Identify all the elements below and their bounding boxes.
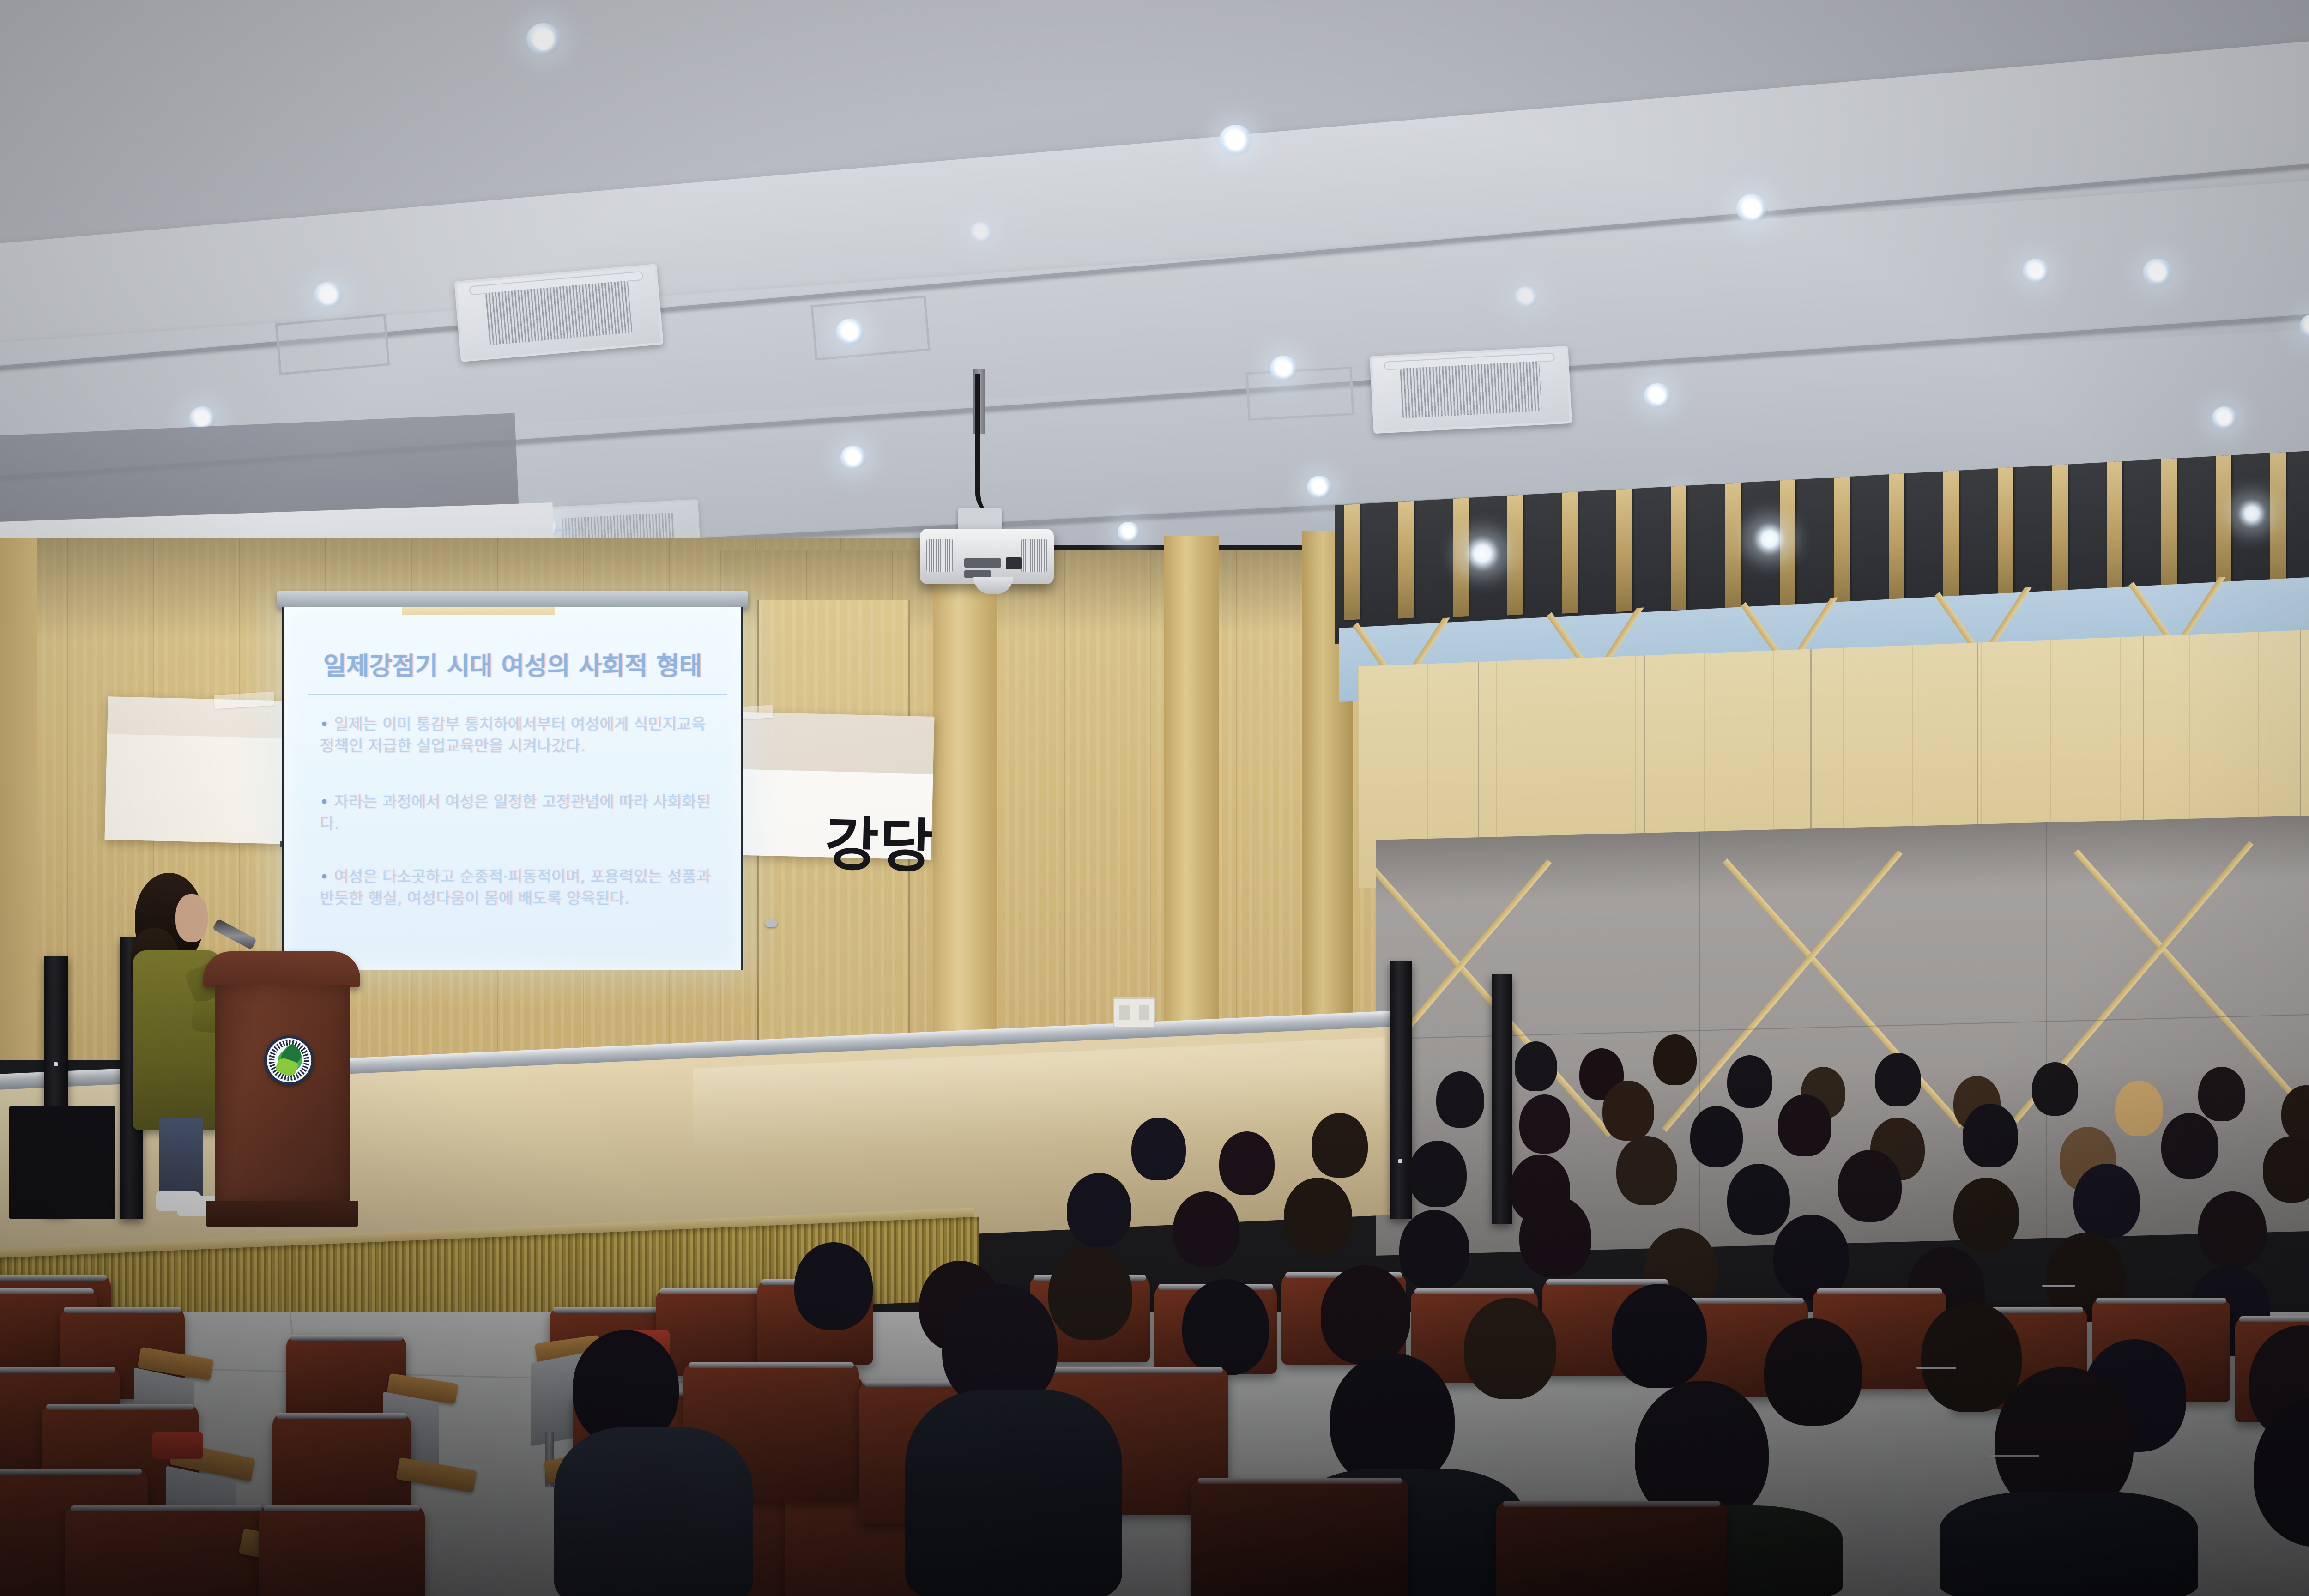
door-knob[interactable] — [765, 919, 777, 927]
pa-speaker-tower-right-2 — [1492, 974, 1512, 1224]
audience-torso-front — [905, 1390, 1122, 1596]
projection-screen: 일제강점기 시대 여성의 사회적 형태 • 일제는 이미 통감부 통치하에서부터… — [277, 591, 748, 970]
audience-member — [2032, 1062, 2078, 1116]
slide-bullet-2: • 자라는 과정에서 여성은 일정한 고정관념에 따라 사회화된다. — [320, 792, 712, 835]
downlight — [840, 446, 866, 470]
seat-front-nearest[interactable] — [1496, 1501, 1727, 1596]
audience-member — [1408, 1141, 1467, 1207]
slide-divider — [308, 694, 727, 695]
wall-column-1 — [933, 545, 997, 1099]
downlight — [1307, 476, 1332, 499]
downlight — [836, 319, 864, 345]
slide-title: 일제강점기 시대 여성의 사회적 형태 — [284, 646, 741, 682]
audience-member — [1219, 1131, 1275, 1195]
auditorium-photo: # 일시 강당 일제강점기 시대 여성의 사회적 형태 • 일제는 이미 통감부… — [0, 0, 2309, 1596]
audience-member — [1838, 1150, 1902, 1222]
audience-member — [1436, 1071, 1484, 1128]
audience-member — [2263, 1136, 2309, 1203]
audience-member — [1515, 1041, 1557, 1091]
audience-member — [1773, 1215, 1849, 1300]
projector-body — [920, 529, 1054, 584]
audience-member — [1131, 1118, 1186, 1180]
seat-cushion — [152, 1432, 203, 1459]
audience-member — [1616, 1136, 1677, 1205]
audience-member — [2281, 1085, 2309, 1142]
audience-member — [1653, 1034, 1697, 1085]
downlight — [1270, 356, 1298, 381]
bullet-marker: • — [320, 715, 329, 734]
slide-bullet-text: 일제는 이미 통감부 통치하에서부터 여성에게 식민지교육정책인 저급한 실업교… — [320, 715, 706, 756]
projector-cable — [975, 374, 999, 517]
banner-right-text: 강당 — [824, 797, 935, 884]
podium-base — [206, 1201, 358, 1227]
slide-bullet-1: • 일제는 이미 통감부 통치하에서부터 여성에게 식민지교육정책인 저급한 실… — [320, 714, 712, 757]
slat-spotlight — [1750, 522, 1789, 556]
audience-member — [1173, 1191, 1239, 1267]
audience-member — [1778, 1094, 1831, 1156]
downlight — [2212, 406, 2237, 429]
downlight — [2143, 259, 2172, 286]
downlight — [1219, 125, 1252, 156]
presenter-leg — [181, 1118, 203, 1197]
microphone[interactable] — [212, 919, 257, 950]
downlight — [1644, 383, 1671, 408]
podium-body — [215, 985, 350, 1202]
audience-member — [1284, 1178, 1352, 1255]
ceiling-hatch-3 — [1245, 367, 1354, 421]
downlight — [314, 282, 343, 308]
audience-member — [1612, 1284, 1707, 1388]
audience-member — [1067, 1173, 1131, 1247]
presenter-leg — [159, 1118, 183, 1196]
audience-member — [1602, 1081, 1654, 1141]
bullet-marker: • — [320, 793, 329, 811]
slide-bullet-text: 여성은 다소곳하고 순종적·피동적이며, 포용력있는 성품과 반듯한 행실, 여… — [320, 868, 710, 908]
audience-member — [794, 1242, 873, 1330]
audience-member — [2115, 1081, 2163, 1136]
audience-member — [2161, 1113, 2218, 1179]
wall-outlet[interactable] — [1113, 997, 1155, 1028]
audience-member — [2073, 1164, 2140, 1239]
wall-corner-left — [0, 538, 37, 1060]
ceiling-hatch-1 — [275, 314, 390, 375]
audience-torso-front — [554, 1427, 753, 1596]
audience-member — [1727, 1055, 1772, 1108]
audience-member-front — [1330, 1353, 1455, 1487]
slat-spotlight — [1462, 536, 1503, 572]
ac-vent-grille — [1400, 361, 1542, 418]
downlight — [1515, 286, 1538, 308]
audience-member — [1182, 1279, 1269, 1375]
slide-bullet-text: 자라는 과정에서 여성은 일정한 고정관념에 따라 사회화된다. — [320, 793, 710, 833]
downlight — [526, 23, 561, 55]
downlight — [1736, 194, 1768, 224]
pa-speaker-base-left — [9, 1106, 115, 1219]
presenter-face — [175, 894, 208, 942]
audience-member — [1519, 1196, 1591, 1277]
audience-torso-front — [1940, 1492, 2198, 1596]
university-emblem — [264, 1035, 314, 1085]
audience-member — [1321, 1265, 1410, 1364]
audience-member — [1963, 1104, 2018, 1167]
downlight — [1118, 522, 1140, 542]
podium-top — [203, 951, 360, 987]
audience-member — [1312, 1113, 1368, 1178]
podium — [203, 951, 360, 1228]
slat-spotlight — [2235, 499, 2268, 528]
ceiling-hatch-2 — [810, 295, 931, 360]
audience-member — [1464, 1298, 1556, 1399]
downlight — [2023, 259, 2049, 284]
audience-member — [2198, 1191, 2267, 1268]
ac-vent-right — [1370, 346, 1572, 434]
seat-empty[interactable] — [65, 1505, 268, 1596]
audience-member — [1875, 1053, 1921, 1106]
screen-surface: 일제강점기 시대 여성의 사회적 형태 • 일제는 이미 통감부 통치하에서부터… — [282, 607, 743, 970]
audience-member — [1953, 1178, 2019, 1251]
wall-column-2 — [1164, 536, 1219, 1099]
audience-member — [1764, 1318, 1862, 1426]
audience-member-front — [2254, 1395, 2309, 1547]
audience-member — [1519, 1094, 1570, 1154]
seat-front-nearest[interactable] — [1191, 1478, 1408, 1596]
audience-member — [1048, 1247, 1132, 1340]
bullet-marker: • — [320, 868, 329, 886]
downlight — [970, 222, 993, 243]
slide-bullet-3: • 여성은 다소곳하고 순종적·피동적이며, 포용력있는 성품과 반듯한 행실,… — [320, 866, 712, 910]
audience-member — [1690, 1106, 1743, 1167]
seat-empty[interactable] — [259, 1505, 425, 1596]
screen-warm-strip — [402, 607, 555, 615]
screen-roller-housing — [277, 591, 748, 609]
